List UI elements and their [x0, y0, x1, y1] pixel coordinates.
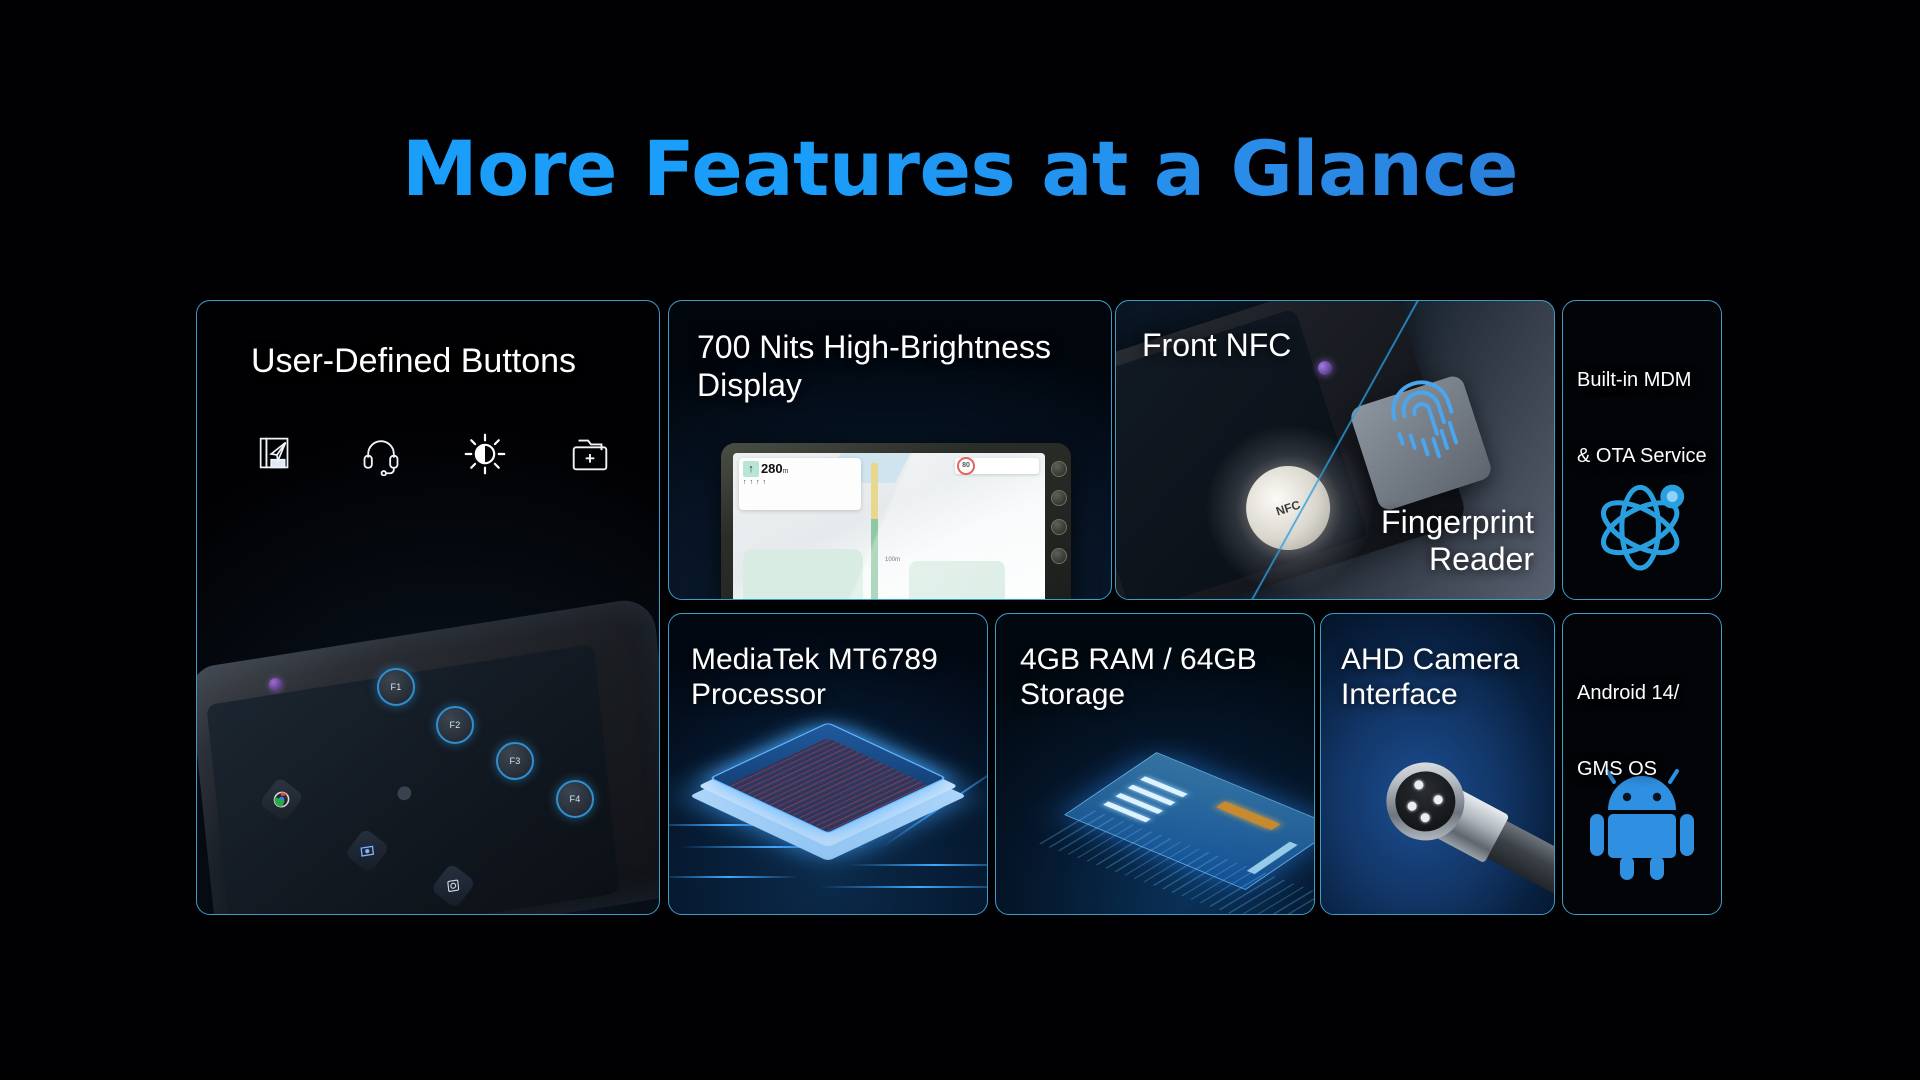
- nav-distance-unit: m: [783, 468, 789, 475]
- card-user-defined-buttons: User-Defined Buttons: [196, 300, 660, 915]
- card-nfc-fingerprint: NFC Front NFC Fingerprint Reader: [1115, 300, 1555, 600]
- card-title-ahd-camera: AHD Camera Interface: [1341, 642, 1519, 713]
- card-built-in-mdm: Built-in MDM & OTA Service: [1562, 300, 1722, 600]
- card-title-processor: MediaTek MT6789 Processor: [691, 642, 938, 713]
- card-title-android: Android 14/ GMS OS: [1577, 636, 1679, 826]
- folder-plus-icon: [567, 431, 613, 477]
- device-button-f1: F1: [377, 668, 415, 706]
- headset-icon: [359, 432, 403, 476]
- tablet-photo-user-buttons: F1 F2 F3 F4: [196, 600, 660, 915]
- device-button-f3: F3: [496, 742, 534, 780]
- tablet-photo-display: ↑ 280m ↑↑↑↑ 80 100m: [721, 443, 1071, 600]
- map-distance-label: 100m: [885, 557, 900, 563]
- card-title-fingerprint-reader: Fingerprint Reader: [1381, 504, 1534, 580]
- user-defined-icon-row: [253, 431, 613, 477]
- mdm-line-2: & OTA Service: [1577, 437, 1707, 475]
- device-button-f4: F4: [556, 780, 594, 818]
- card-title-display: 700 Nits High-Brightness Display: [697, 329, 1051, 405]
- card-title-front-nfc: Front NFC: [1142, 327, 1291, 365]
- device-button-f2: F2: [436, 706, 474, 744]
- card-processor: MediaTek MT6789 Processor: [668, 613, 988, 915]
- page-title: More Features at a Glance: [0, 124, 1920, 213]
- nav-distance-value: 280: [761, 461, 783, 476]
- mdm-line-1: Built-in MDM: [1577, 361, 1707, 399]
- card-title-user-defined-buttons: User-Defined Buttons: [251, 341, 576, 381]
- navigation-distance-card: ↑ 280m ↑↑↑↑: [739, 458, 861, 510]
- device-side-keys: [1051, 461, 1067, 564]
- barcode-scanner-icon: [253, 431, 299, 477]
- brightness-icon: [463, 432, 507, 476]
- card-ahd-camera-interface: AHD Camera Interface: [1320, 613, 1555, 915]
- tablet-screen-map: ↑ 280m ↑↑↑↑ 80 100m: [733, 453, 1045, 600]
- android-line-2: GMS OS: [1577, 750, 1679, 788]
- processor-chip-photo: [683, 718, 973, 908]
- speed-limit-value: 80: [957, 457, 975, 475]
- nav-arrow-icon: ↑: [743, 461, 759, 477]
- card-memory-storage: 4GB RAM / 64GB Storage: [995, 613, 1315, 915]
- android-line-1: Android 14/: [1577, 674, 1679, 712]
- card-high-brightness-display: 700 Nits High-Brightness Display ↑ 280m …: [668, 300, 1112, 600]
- ahd-connector-photo: [1361, 733, 1555, 915]
- feature-highlights-page: More Features at a Glance User-Defined B…: [0, 0, 1920, 1080]
- card-android-os: Android 14/ GMS OS: [1562, 613, 1722, 915]
- card-title-mdm: Built-in MDM & OTA Service: [1577, 323, 1707, 513]
- card-title-memory: 4GB RAM / 64GB Storage: [1020, 642, 1257, 713]
